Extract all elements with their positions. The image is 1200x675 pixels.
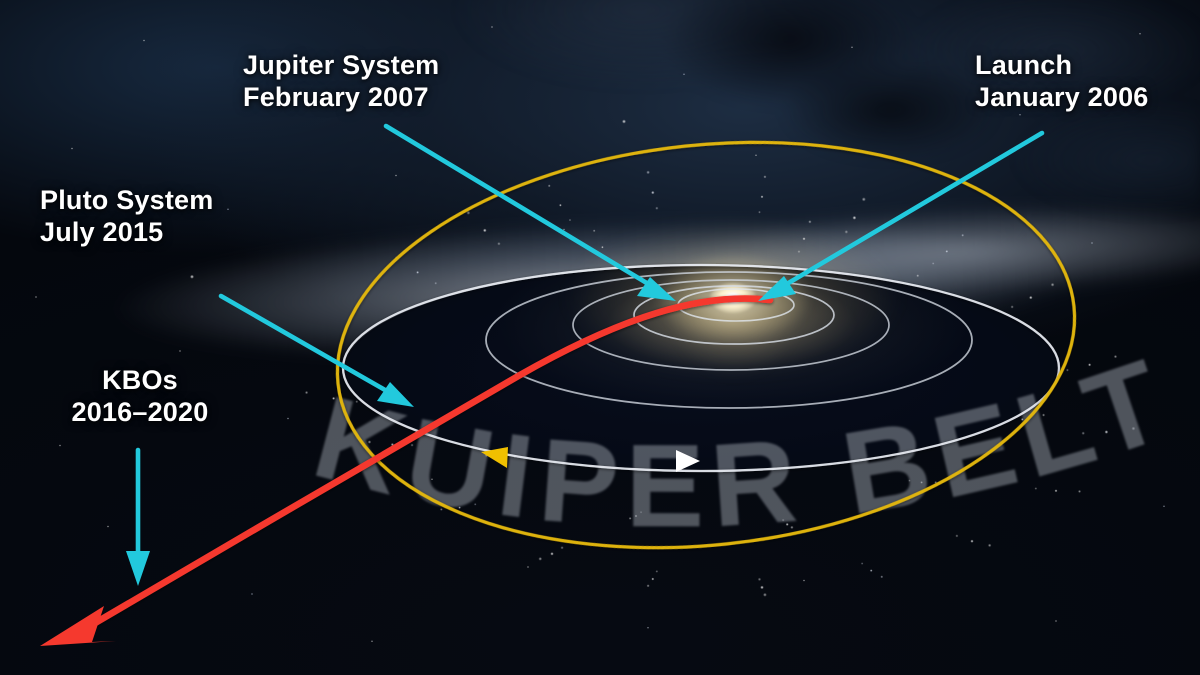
label-pluto-line1: Pluto System (40, 185, 213, 215)
label-jupiter-line1: Jupiter System (243, 50, 439, 80)
trajectory-arrowhead (40, 606, 116, 646)
orbit-uranus (486, 272, 972, 408)
neptune-orbit-direction-arrow (676, 450, 700, 472)
pointer-line-pluto (221, 296, 392, 394)
label-jupiter-system: Jupiter System February 2007 (243, 50, 439, 114)
label-launch: Launch January 2006 (975, 50, 1149, 114)
label-kbos: KBOs 2016–2020 (50, 365, 230, 429)
pointer-arrowhead-kbos (126, 551, 150, 586)
pointer-line-launch (780, 133, 1042, 288)
label-kbos-line1: KBOs (102, 365, 178, 395)
label-kbos-line2: 2016–2020 (50, 397, 230, 429)
new-horizons-trajectory (78, 299, 770, 633)
pointer-line-jupiter (386, 126, 655, 288)
label-launch-line2: January 2006 (975, 82, 1149, 114)
label-launch-line1: Launch (975, 50, 1072, 80)
label-pluto-system: Pluto System July 2015 (40, 185, 213, 249)
label-pluto-line2: July 2015 (40, 217, 213, 249)
figure-canvas: KUIPER BELT (0, 0, 1200, 675)
pointer-arrowhead-pluto (377, 382, 414, 407)
orbit-pluto (317, 107, 1095, 582)
label-jupiter-line2: February 2007 (243, 82, 439, 114)
